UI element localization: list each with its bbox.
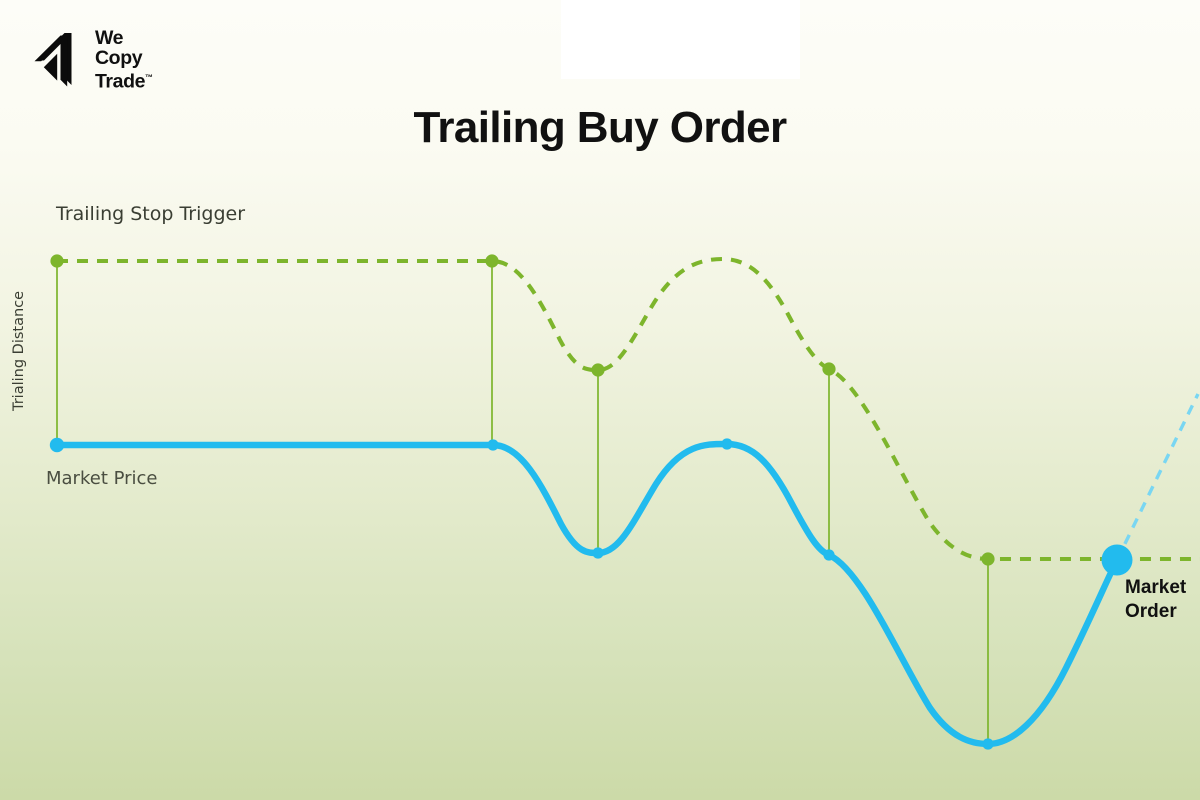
- green-marker-5: [981, 552, 994, 565]
- blue-marker-2: [487, 439, 498, 450]
- green-marker-3: [591, 363, 604, 376]
- market-price-markers: [50, 438, 994, 750]
- blue-marker-4: [721, 438, 732, 449]
- trailing-distance-connectors: [57, 261, 988, 744]
- trailing-distance-axis-label: Trialing Distance: [11, 291, 27, 411]
- projected-price-line: [1117, 394, 1198, 560]
- green-marker-4: [822, 362, 835, 375]
- market-price-line: [57, 444, 1117, 744]
- market-order-label: Market Order: [1125, 576, 1199, 624]
- blue-marker-1: [50, 438, 64, 452]
- trailing-stop-trigger-label: Trailing Stop Trigger: [56, 203, 245, 225]
- blue-marker-6: [982, 738, 993, 749]
- green-marker-2: [485, 254, 498, 267]
- green-marker-1: [50, 254, 63, 267]
- blue-marker-3: [592, 547, 603, 558]
- trailing-stop-trigger-line: [57, 259, 1200, 559]
- trailing-stop-markers: [50, 254, 994, 565]
- blue-marker-5: [823, 549, 834, 560]
- trailing-buy-order-chart: [0, 0, 1200, 800]
- market-price-label: Market Price: [46, 468, 158, 489]
- infographic-canvas: We Copy Trade™ Trailing Buy Order: [0, 0, 1200, 800]
- market-order-marker[interactable]: [1102, 545, 1133, 576]
